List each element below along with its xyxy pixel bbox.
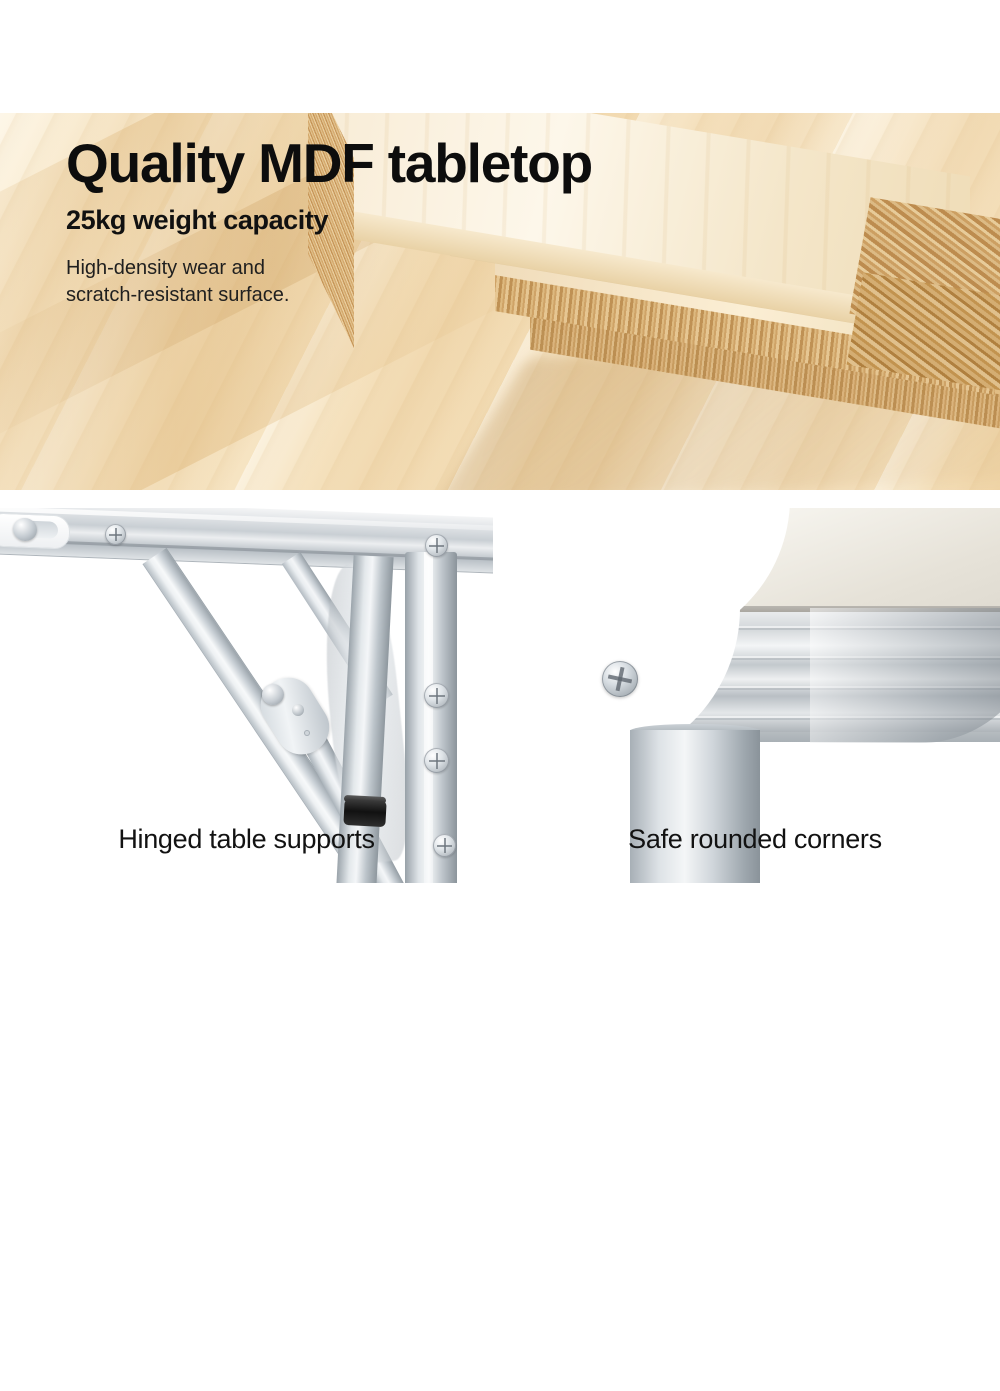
hero-description: High-density wear and scratch-resistant … xyxy=(66,255,536,309)
leg-screw-2 xyxy=(424,748,449,773)
panel-divider xyxy=(493,1016,510,1391)
hero-description-line-1: High-density wear and xyxy=(66,255,536,282)
round-leg-tube xyxy=(630,730,760,883)
hero-panel-mdf-tabletop: Quality MDF tabletop 25kg weight capacit… xyxy=(0,113,1000,490)
hinge-rivet xyxy=(304,730,310,736)
hinge-pivot-bolt xyxy=(262,684,284,705)
caption-safe-rounded-corners: Safe rounded corners xyxy=(510,824,1000,855)
rail-screw-2 xyxy=(425,534,448,557)
hero-description-line-2: scratch-resistant surface. xyxy=(66,282,536,309)
hero-text-block: Quality MDF tabletop 25kg weight capacit… xyxy=(66,135,536,309)
adjustment-knob xyxy=(13,518,37,542)
hero-subtitle: 25kg weight capacity xyxy=(66,205,536,236)
caption-hinged-table-supports: Hinged table supports xyxy=(0,824,493,855)
apron-corner-shading xyxy=(810,608,1000,743)
hero-title: Quality MDF tabletop xyxy=(66,135,536,191)
panel-safe-rounded-corners: Safe rounded corners xyxy=(510,508,1000,883)
feature-panel-row: Hinged table supports Safe rounded corne… xyxy=(0,508,1000,883)
hinge-pivot-small xyxy=(292,704,304,716)
leg-black-collar xyxy=(343,799,386,827)
leg-screw-1 xyxy=(424,683,449,708)
panel-hinged-table-supports: Hinged table supports xyxy=(0,508,493,883)
rail-screw-1 xyxy=(105,524,126,545)
infographic-page: Quality MDF tabletop 25kg weight capacit… xyxy=(0,0,1000,1000)
apron-phillips-screw xyxy=(602,661,638,697)
